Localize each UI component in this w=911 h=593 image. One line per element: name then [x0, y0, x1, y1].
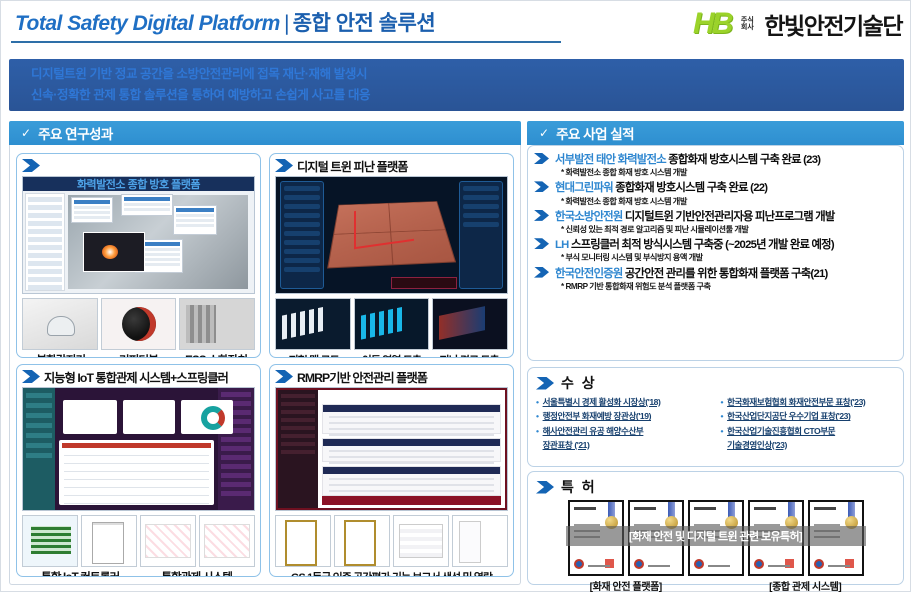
awards-box: 수 상 •서울특별시 경제 활성화 시장상('18) •행정안전부 화재예방 장… — [527, 367, 904, 467]
award-text: 한국화재보험협회 화재안전부문 표창('23) — [727, 396, 865, 409]
award-text: 해사안전관리 유공 해양수산부 — [543, 425, 644, 438]
business-sub-4: * RMRP 기반 통합화재 위험도 분석 플랫폼 구축 — [561, 281, 897, 293]
screenshot-digital-twin — [275, 176, 508, 294]
double-arrow-icon — [534, 238, 549, 249]
double-arrow-icon — [275, 159, 293, 172]
patents-title-row: 특 허 — [536, 477, 895, 497]
awards-column-left: •서울특별시 경제 활성화 시장상('18) •행정안전부 화재예방 장관상('… — [536, 396, 711, 453]
caption-iot-controller: 통합 IoT 컨트롤러 — [22, 569, 139, 577]
award-item[interactable]: •서울특별시 경제 활성화 시장상('18) — [536, 396, 711, 409]
screenshot-rmrp-platform — [275, 387, 508, 511]
logo-prefix-line2: 회사 — [741, 24, 754, 31]
check-icon: ✓ — [539, 126, 549, 140]
research-card-rmrp[interactable]: RMRP기반 안전관리 플랫폼 GS 1등급 인증 공간평가 기능 보고서 생성 — [269, 364, 514, 577]
card2-captions: 지형 맵 로드 이동 영역 도출 피난 경로 도출 — [275, 352, 508, 358]
slide-header: Total Safety Digital Platform|종합 안전 솔루션 … — [1, 1, 911, 49]
intro-banner-line1: 디지털트윈 기반 정교 공간을 소방안전관리에 접목 재난·재해 발생시 — [31, 64, 882, 85]
thumb-system-drawing — [140, 515, 196, 567]
card-title-iot-control: 지능형 IoT 통합관제 시스템+스프링클러 — [44, 368, 228, 386]
card1-thumbnails — [22, 298, 255, 350]
thumb-gs-certificate-2 — [334, 515, 390, 567]
business-sub-1: * 화력발전소 종합 화재 방호 시스템 개발 — [561, 196, 897, 208]
title-underline — [11, 41, 561, 43]
business-desc-0: 종합화재 방호시스템 구축 완료 (23) — [666, 154, 820, 166]
patents-title: 특 허 — [561, 477, 597, 497]
double-arrow-icon — [534, 210, 549, 221]
intro-banner-line2: 신속·정확한 관제 통합 솔루션을 통하여 예방하고 손쉽게 사고를 대응 — [31, 85, 882, 106]
award-text: 서울특별시 경제 활성화 시장상('18) — [543, 396, 661, 409]
business-client-4: 한국안전인증원 — [555, 268, 623, 280]
caption-rmrp-features: GS 1등급 인증 공간평가 기능 보고서 생성 및 열람 — [275, 569, 508, 577]
thumb-ess-extinguisher — [179, 298, 255, 350]
thumb-report-view — [452, 515, 508, 567]
section-title-business: 주요 사업 실적 — [556, 123, 634, 143]
business-item[interactable]: 한국소방안전원 디지털트윈 기반안전관리자용 피난프로그램 개발 * 신뢰성 있… — [534, 210, 897, 236]
logo-prefix-line1: 주식 — [741, 17, 754, 24]
intro-banner: 디지털트윈 기반 정교 공간을 소방안전관리에 접목 재난·재해 발생시 신속·… — [9, 59, 904, 111]
business-item[interactable]: 한국안전인증원 공간안전 관리를 위한 통합화재 플랫폼 구축(21) * RM… — [534, 267, 897, 293]
section-header-business: ✓ 주요 사업 실적 — [527, 121, 904, 145]
double-arrow-icon — [22, 159, 40, 172]
double-arrow-icon — [536, 377, 554, 390]
patent-certificates-strip: [화재 안전 및 디지털 트윈 관련 보유특허] — [566, 500, 866, 576]
awards-title-row: 수 상 — [536, 373, 895, 393]
thumb-space-evaluation — [393, 515, 449, 567]
award-item-cont[interactable]: •장관표창 ('21) — [536, 439, 711, 452]
screenshot-iot-dashboard — [22, 387, 255, 511]
business-desc-3: 스프링클러 최적 방식시스템 구축중 (~2025년 개발 완료 예정) — [569, 239, 834, 251]
card-title-row — [17, 154, 260, 176]
page-title: Total Safety Digital Platform|종합 안전 솔루션 — [15, 7, 435, 37]
business-panel: 서부발전 태안 화력발전소 종합화재 방호시스템 구축 완료 (23) * 화력… — [527, 145, 904, 585]
card-title-row: RMRP기반 안전관리 플랫폼 — [270, 365, 513, 387]
thumb-evacuation-route — [432, 298, 508, 350]
card4-thumbnails — [275, 515, 508, 567]
logo-corp-prefix: 주식 회사 — [736, 17, 758, 32]
business-client-1: 현대그린파워 — [555, 182, 613, 194]
slide-root: Total Safety Digital Platform|종합 안전 솔루션 … — [0, 0, 911, 592]
caption-composite-detector: 복합감지기 — [22, 352, 100, 358]
research-card-thermal-plant[interactable]: 화력발전소 종합 방호 플랫폼 복합감지기 리피터봇 ESS 소화장치 — [16, 153, 261, 358]
patents-box: 특 허 — [527, 471, 904, 585]
patent-caption-control-system: [종합 관제 시스템] — [769, 578, 841, 593]
award-text: 한국산업단지공단 우수기업 표창('23) — [727, 410, 850, 423]
business-sub-3: * 부식 모니터링 시스템 및 부식방지 용액 개발 — [561, 252, 897, 264]
caption-terrain-map: 지형 맵 로드 — [275, 352, 353, 358]
award-item-cont[interactable]: •기술경영인상('23) — [721, 439, 896, 452]
research-card-iot-control[interactable]: 지능형 IoT 통합관제 시스템+스프링클러 통합 IoT — [16, 364, 261, 577]
card1-overlay-title: 화력발전소 종합 방호 플랫폼 — [23, 176, 254, 192]
business-sub-0: * 화력발전소 종합 화재 방호 시스템 개발 — [561, 167, 897, 179]
business-client-0: 서부발전 태안 화력발전소 — [555, 154, 666, 166]
business-achievements-box: 서부발전 태안 화력발전소 종합화재 방호시스템 구축 완료 (23) * 화력… — [527, 145, 904, 361]
title-korean: 종합 안전 솔루션 — [293, 12, 435, 35]
patent-caption-fire-safety: [화재 안전 플랫폼] — [590, 578, 662, 593]
double-arrow-icon — [534, 267, 549, 278]
awards-column-right: •한국화재보험협회 화재안전부문 표창('23) •한국산업단지공단 우수기업 … — [721, 396, 896, 453]
award-text: 장관표창 ('21) — [543, 439, 590, 452]
double-arrow-icon — [22, 370, 40, 383]
business-client-3: LH — [555, 239, 569, 251]
check-icon: ✓ — [21, 126, 31, 140]
double-arrow-icon — [536, 481, 554, 494]
caption-integrated-control: 통합관제 시스템 — [139, 569, 256, 577]
screenshot-thermal-dashboard: 화력발전소 종합 방호 플랫폼 — [22, 176, 255, 294]
logo-company-name: 한빛안전기술단 — [764, 7, 902, 41]
business-item[interactable]: LH 스프링클러 최적 방식시스템 구축중 (~2025년 개발 완료 예정) … — [534, 238, 897, 264]
thumb-system-drawing-2 — [199, 515, 255, 567]
caption-ess-extinguisher: ESS 소화장치 — [177, 352, 255, 358]
business-desc-2: 디지털트윈 기반안전관리자용 피난프로그램 개발 — [623, 211, 835, 223]
title-divider: | — [280, 12, 293, 35]
business-sub-2: * 신뢰성 있는 최적 경로 알고리즘 및 피난 시뮬레이션툴 개발 — [561, 224, 897, 236]
award-item[interactable]: •행정안전부 화재예방 장관상('19) — [536, 410, 711, 423]
section-title-research: 주요 연구성과 — [38, 123, 113, 143]
business-item[interactable]: 현대그린파워 종합화재 방호시스템 구축 완료 (22) * 화력발전소 종합 … — [534, 181, 897, 207]
card-title-row: 디지털 트윈 피난 플랫폼 — [270, 154, 513, 176]
research-card-digital-twin[interactable]: 디지털 트윈 피난 플랫폼 지형 맵 로드 이동 영역 도출 피난 — [269, 153, 514, 358]
research-panel: 화력발전소 종합 방호 플랫폼 복합감지기 리피터봇 ESS 소화장치 — [9, 145, 521, 585]
award-item[interactable]: •한국산업단지공단 우수기업 표창('23) — [721, 410, 896, 423]
thumb-composite-detector — [22, 298, 98, 350]
business-desc-1: 종합화재 방호시스템 구축 완료 (22) — [613, 182, 767, 194]
card-title-digital-twin: 디지털 트윈 피난 플랫폼 — [297, 157, 408, 175]
thumb-certificate-doc — [81, 515, 137, 567]
patent-captions: [화재 안전 플랫폼] [종합 관제 시스템] — [536, 578, 895, 593]
patent-overlay-label: [화재 안전 및 디지털 트윈 관련 보유특허] — [566, 526, 866, 546]
card-title-rmrp: RMRP기반 안전관리 플랫폼 — [297, 368, 427, 386]
business-desc-4: 공간안전 관리를 위한 통합화재 플랫폼 구축(21) — [623, 268, 828, 280]
business-item[interactable]: 서부발전 태안 화력발전소 종합화재 방호시스템 구축 완료 (23) * 화력… — [534, 153, 897, 179]
company-logo: HB 주식 회사 한빛안전기술단 — [693, 3, 902, 45]
double-arrow-icon — [275, 370, 293, 383]
award-text: 기술경영인상('23) — [727, 439, 787, 452]
business-client-2: 한국소방안전원 — [555, 211, 623, 223]
caption-repeater-bot: 리피터봇 — [100, 352, 178, 358]
award-text: 한국산업기술진흥협회 CTO부문 — [727, 425, 835, 438]
card4-captions: GS 1등급 인증 공간평가 기능 보고서 생성 및 열람 — [275, 569, 508, 577]
award-text: 행정안전부 화재예방 장관상('19) — [543, 410, 651, 423]
double-arrow-icon — [534, 181, 549, 192]
thumb-iot-controller — [22, 515, 78, 567]
thumb-gs-certificate-1 — [275, 515, 331, 567]
thumb-terrain-map — [275, 298, 351, 350]
awards-grid: •서울특별시 경제 활성화 시장상('18) •행정안전부 화재예방 장관상('… — [536, 396, 895, 453]
double-arrow-icon — [534, 153, 549, 164]
thumb-repeater-bot — [101, 298, 177, 350]
awards-title: 수 상 — [561, 373, 597, 393]
thumb-movement-area — [354, 298, 430, 350]
title-english: Total Safety Digital Platform — [15, 12, 280, 35]
card-title-row: 지능형 IoT 통합관제 시스템+스프링클러 — [17, 365, 260, 387]
card1-captions: 복합감지기 리피터봇 ESS 소화장치 — [22, 352, 255, 358]
card2-thumbnails — [275, 298, 508, 350]
caption-evacuation-route: 피난 경로 도출 — [430, 352, 508, 358]
card3-captions: 통합 IoT 컨트롤러 통합관제 시스템 — [22, 569, 255, 577]
award-item[interactable]: •해사안전관리 유공 해양수산부 — [536, 425, 711, 438]
section-header-research: ✓ 주요 연구성과 — [9, 121, 521, 145]
hb-logo-icon: HB — [693, 9, 730, 39]
card3-thumbnails — [22, 515, 255, 567]
caption-movement-area: 이동 영역 도출 — [353, 352, 431, 358]
award-item[interactable]: •한국화재보험협회 화재안전부문 표창('23) — [721, 396, 896, 409]
award-item[interactable]: •한국산업기술진흥협회 CTO부문 — [721, 425, 896, 438]
